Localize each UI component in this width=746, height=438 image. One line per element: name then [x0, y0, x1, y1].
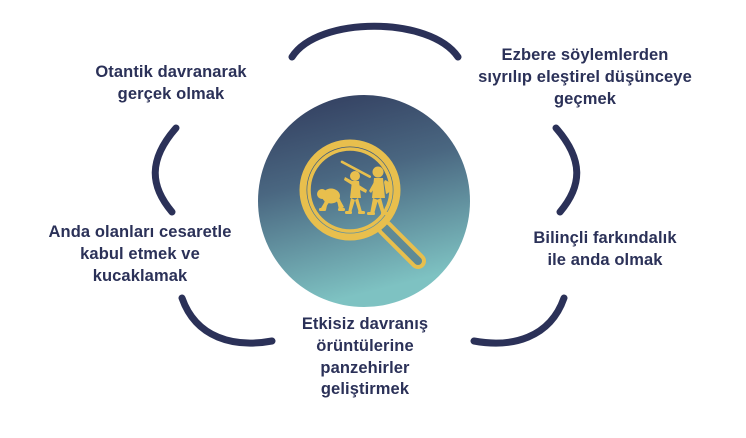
- gradient-circle: [258, 95, 470, 307]
- label-mid-left: Anda olanları cesaretle kabul etmek ve k…: [4, 222, 276, 287]
- label-mid-right: Bilinçli farkındalık ile anda olmak: [480, 228, 730, 272]
- label-top-right: Ezbere söylemlerden sıyrılıp eleştirel d…: [440, 45, 730, 110]
- label-bottom-center: Etkisiz davranış örüntülerine panzehirle…: [258, 314, 472, 401]
- label-top-left: Otantik davranarak gerçek olmak: [30, 62, 312, 106]
- infographic-canvas: Otantik davranarak gerçek olmak Ezbere s…: [0, 0, 746, 438]
